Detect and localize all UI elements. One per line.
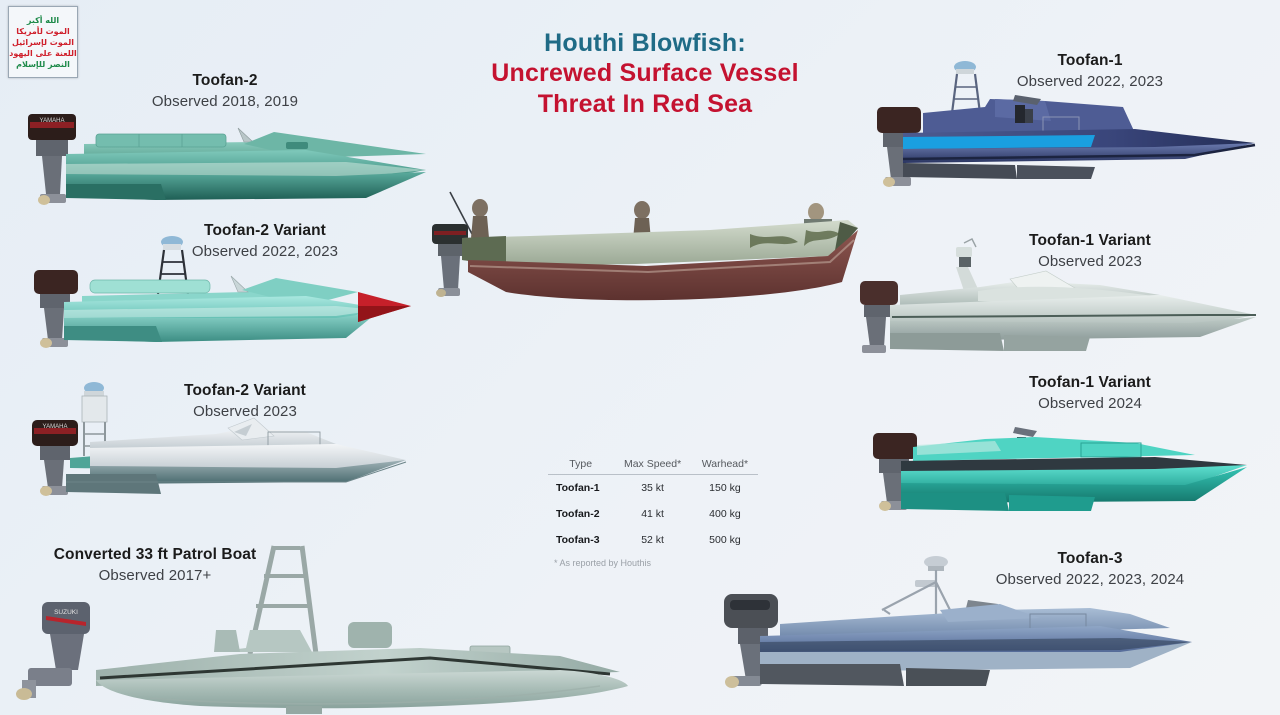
svg-text:YAMAHA: YAMAHA xyxy=(40,118,65,124)
vessel-illustration-toofan-3 xyxy=(700,552,1260,712)
infographic-canvas: الله أكبر الموت لأمريكا الموت لإسرائيل ا… xyxy=(0,0,1280,715)
spec-table: Type Max Speed* Warhead* Toofan-1 35 kt … xyxy=(548,458,758,568)
table-row: Toofan-1 35 kt 150 kg xyxy=(548,475,758,502)
antenna-mast-icon xyxy=(882,556,952,614)
cyan-stripe xyxy=(903,135,1095,149)
vessel-name: Toofan-1 Variant xyxy=(985,374,1195,393)
cell-warhead: 500 kg xyxy=(692,527,758,553)
vessel-illustration-toofan-2-variant-b: YAMAHA xyxy=(6,378,436,498)
emblem-line-5: النصر للإسلام xyxy=(16,59,70,70)
cell-max-speed: 35 kt xyxy=(613,475,692,502)
table-row: Toofan-2 41 kt 400 kg xyxy=(548,501,758,527)
vessel-illustration-decoy-skiff xyxy=(410,186,860,321)
cell-type: Toofan-1 xyxy=(548,475,613,502)
title-line-3: Threat In Red Sea xyxy=(400,89,890,120)
cell-warhead: 150 kg xyxy=(692,475,758,502)
sensor-mast-icon xyxy=(956,239,978,291)
col-header-max-speed: Max Speed* xyxy=(613,458,692,475)
col-header-warhead: Warhead* xyxy=(692,458,758,475)
emblem-line-2: الموت لأمريكا xyxy=(16,26,70,37)
cell-type: Toofan-3 xyxy=(548,527,613,553)
svg-text:SUZUKI: SUZUKI xyxy=(54,609,78,616)
emblem-line-4: اللعنة على اليهود xyxy=(9,48,76,59)
vessel-illustration-toofan-1-variant-a xyxy=(860,235,1280,365)
vessel-illustration-toofan-2: YAMAHA xyxy=(6,108,426,208)
vessel-illustration-toofan-2-variant-a xyxy=(6,230,436,350)
title-line-2: Uncrewed Surface Vessel xyxy=(400,58,890,89)
cell-warhead: 400 kg xyxy=(692,501,758,527)
vessel-illustration-toofan-1-variant-b xyxy=(855,405,1275,530)
cell-max-speed: 41 kt xyxy=(613,501,692,527)
table-header-row: Type Max Speed* Warhead* xyxy=(548,458,758,475)
col-header-type: Type xyxy=(548,458,613,475)
houthi-slogan-emblem: الله أكبر الموت لأمريكا الموت لإسرائيل ا… xyxy=(8,6,78,78)
title-line-1: Houthi Blowfish: xyxy=(400,28,890,58)
table-row: Toofan-3 52 kt 500 kg xyxy=(548,527,758,553)
vessel-illustration-toofan-1 xyxy=(855,55,1275,200)
outboard-motor-icon xyxy=(432,224,468,297)
vessel-name: Toofan-2 xyxy=(120,72,330,91)
emblem-line-1: الله أكبر xyxy=(27,15,59,26)
emblem-line-3: الموت لإسرائيل xyxy=(12,37,74,48)
outboard-motor-icon: SUZUKI xyxy=(16,602,90,700)
vessel-illustration-converted-patrol-boat: SUZUKI xyxy=(0,530,630,715)
label-toofan-2: Toofan-2 Observed 2018, 2019 xyxy=(120,72,330,111)
table-footnote: * As reported by Houthis xyxy=(548,558,758,568)
decoy-mannequin-icon xyxy=(471,199,489,238)
cell-type: Toofan-2 xyxy=(548,501,613,527)
svg-text:YAMAHA: YAMAHA xyxy=(43,424,68,430)
page-title: Houthi Blowfish: Uncrewed Surface Vessel… xyxy=(400,28,890,120)
cell-max-speed: 52 kt xyxy=(613,527,692,553)
